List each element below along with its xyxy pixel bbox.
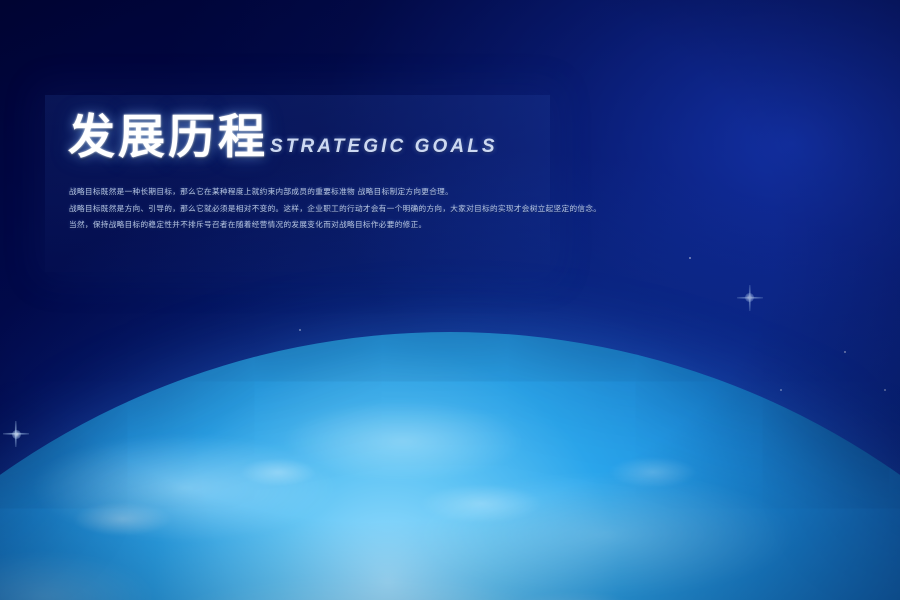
page-subtitle: STRATEGIC GOALS	[270, 137, 498, 156]
text-panel: 发展历程 STRATEGIC GOALS 战略目标既然是一种长期目标，那么它在某…	[45, 95, 550, 272]
banner-stage: 发展历程 STRATEGIC GOALS 战略目标既然是一种长期目标，那么它在某…	[0, 0, 900, 600]
body-line: 战略目标既然是方向、引导的，那么它就必须是相对不变的。这样，企业职工的行动才会有…	[69, 201, 539, 218]
body-line: 战略目标既然是一种长期目标，那么它在某种程度上就约束内部成员的重要标准物 战略目…	[69, 184, 539, 201]
scene-vignette	[0, 0, 900, 600]
headline-group: 发展历程 STRATEGIC GOALS	[68, 115, 498, 162]
body-line: 当然，保持战略目标的稳定性并不排斥号召者在随着经营情况的发展变化而对战略目标作必…	[69, 217, 539, 234]
body-copy: 战略目标既然是一种长期目标，那么它在某种程度上就约束内部成员的重要标准物 战略目…	[69, 184, 539, 234]
page-title: 发展历程	[68, 115, 268, 162]
